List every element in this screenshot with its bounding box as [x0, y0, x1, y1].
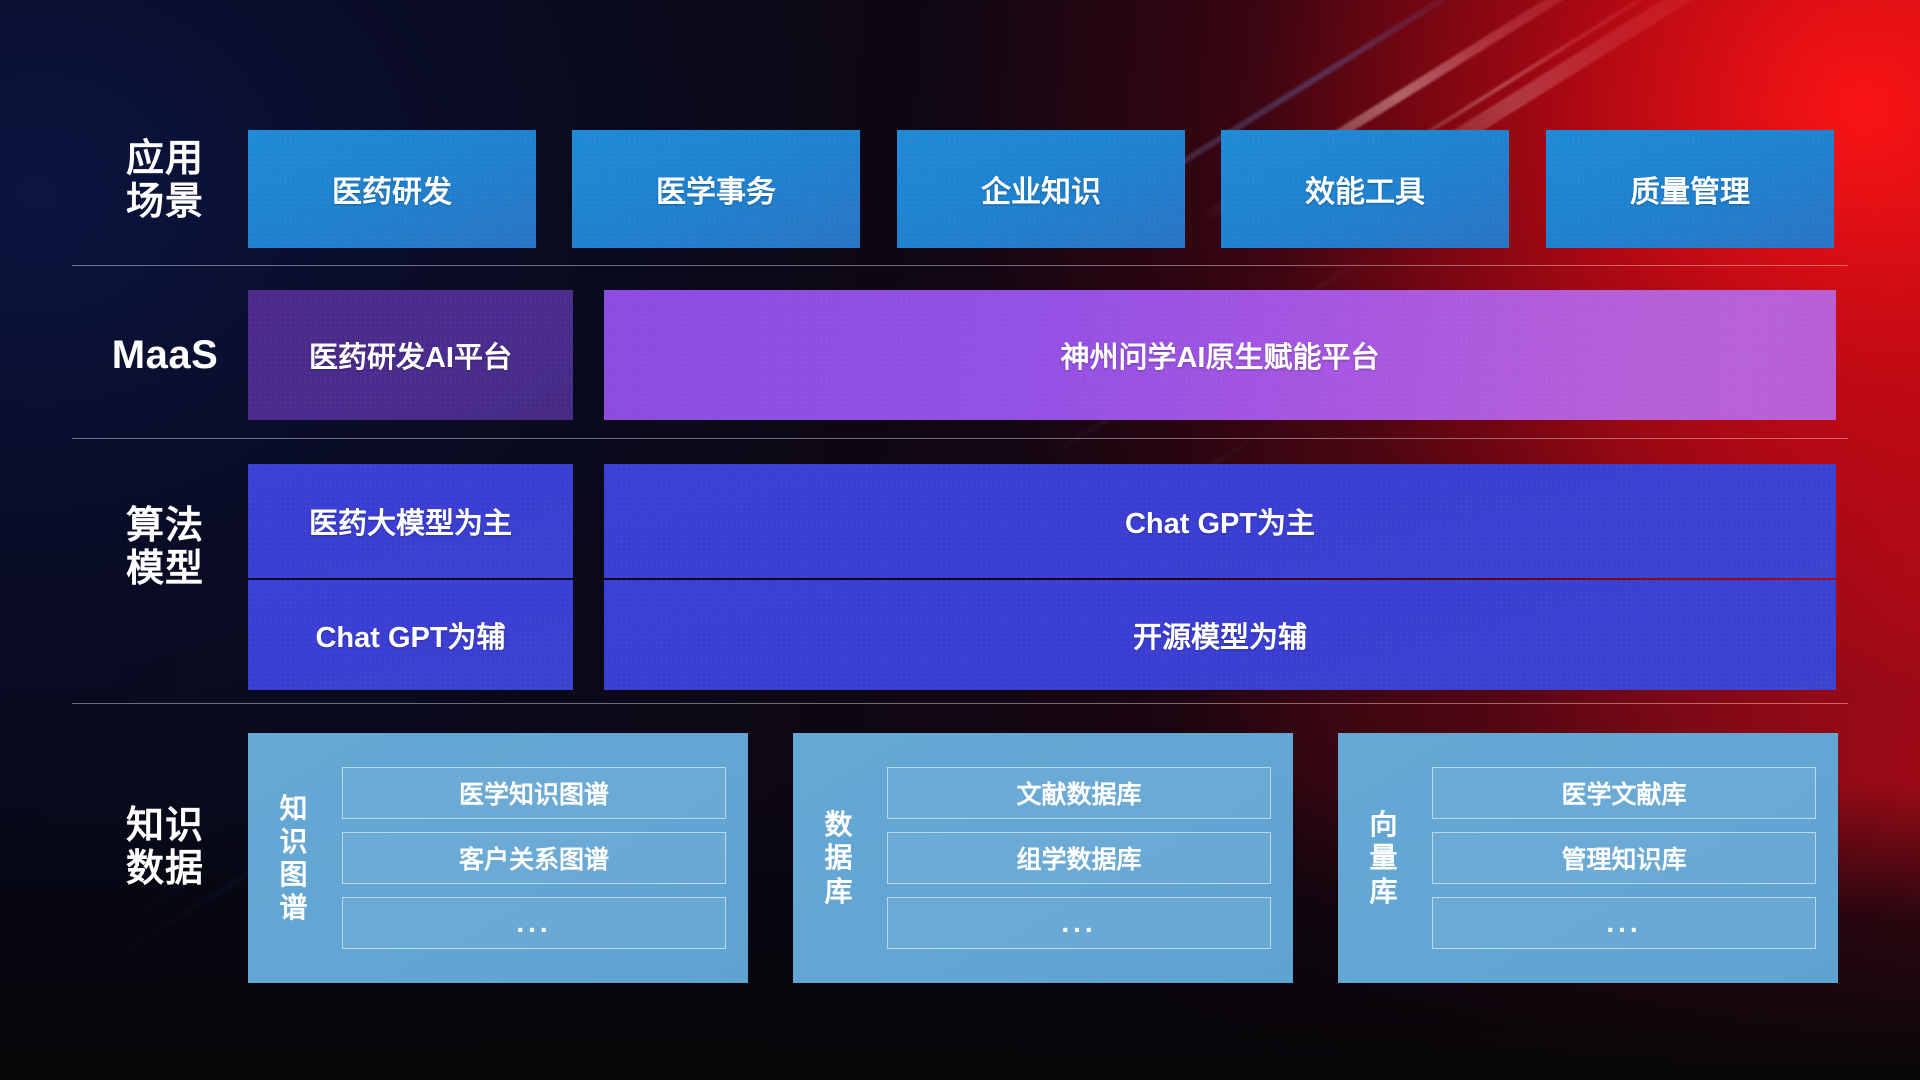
maas-card-label: 神州问学AI原生赋能平台: [1060, 334, 1379, 376]
knowledge-group-title: 向 量 库: [1338, 733, 1430, 983]
row-label-knowledge-data: 知识 数据: [80, 805, 250, 890]
algo-card-chatgpt-secondary[interactable]: Chat GPT为辅: [248, 580, 573, 690]
app-scenario-card-4[interactable]: 效能工具: [1221, 130, 1509, 248]
knowledge-item[interactable]: 医学文献库: [1432, 767, 1816, 819]
knowledge-group-items: 文献数据库 组学数据库 ...: [885, 733, 1293, 983]
knowledge-group-knowledge-graph[interactable]: 知 识 图 谱 医学知识图谱 客户关系图谱 ...: [248, 733, 748, 983]
algo-card-chatgpt-primary[interactable]: Chat GPT为主: [604, 464, 1836, 578]
row-label-line-2: 模型: [80, 548, 250, 591]
knowledge-item-more[interactable]: ...: [887, 897, 1271, 949]
maas-card-label: 医药研发AI平台: [309, 334, 512, 376]
knowledge-item[interactable]: 文献数据库: [887, 767, 1271, 819]
row-label-line-2: 场景: [80, 181, 250, 224]
app-scenario-card-3[interactable]: 企业知识: [897, 130, 1185, 248]
app-scenario-label: 企业知识: [981, 167, 1101, 211]
knowledge-group-title: 数 据 库: [793, 733, 885, 983]
row-label-maas: MaaS: [80, 333, 250, 378]
knowledge-item[interactable]: 组学数据库: [887, 832, 1271, 884]
knowledge-group-vector-store[interactable]: 向 量 库 医学文献库 管理知识库 ...: [1338, 733, 1838, 983]
row-label-algorithm-models: 算法 模型: [80, 505, 250, 590]
divider-row-1: [72, 265, 1848, 266]
knowledge-item-more[interactable]: ...: [342, 897, 726, 949]
app-scenario-label: 医药研发: [332, 167, 452, 211]
row-label-line-2: 数据: [80, 848, 250, 891]
app-scenario-label: 质量管理: [1630, 167, 1750, 211]
app-scenario-label: 医学事务: [656, 167, 776, 211]
row-label-line-1: 算法: [80, 505, 250, 548]
row-label-line-1: 知识: [80, 805, 250, 848]
algo-card-label: 开源模型为辅: [1133, 614, 1307, 656]
algo-card-opensource-secondary[interactable]: 开源模型为辅: [604, 580, 1836, 690]
algo-card-label: 医药大模型为主: [309, 500, 512, 542]
knowledge-group-title: 知 识 图 谱: [248, 733, 340, 983]
knowledge-group-items: 医学文献库 管理知识库 ...: [1430, 733, 1838, 983]
knowledge-group-database[interactable]: 数 据 库 文献数据库 组学数据库 ...: [793, 733, 1293, 983]
algo-card-pharma-llm-primary[interactable]: 医药大模型为主: [248, 464, 573, 578]
app-scenario-card-5[interactable]: 质量管理: [1546, 130, 1834, 248]
knowledge-item[interactable]: 客户关系图谱: [342, 832, 726, 884]
app-scenario-label: 效能工具: [1305, 167, 1425, 211]
app-scenario-card-1[interactable]: 医药研发: [248, 130, 536, 248]
knowledge-item[interactable]: 医学知识图谱: [342, 767, 726, 819]
knowledge-item-more[interactable]: ...: [1432, 897, 1816, 949]
algo-card-label: Chat GPT为主: [1125, 500, 1315, 542]
maas-card-pharma-platform[interactable]: 医药研发AI平台: [248, 290, 573, 420]
knowledge-item[interactable]: 管理知识库: [1432, 832, 1816, 884]
maas-card-shenzhou-platform[interactable]: 神州问学AI原生赋能平台: [604, 290, 1836, 420]
divider-row-2: [72, 438, 1848, 439]
row-label-line-1: 应用: [80, 138, 250, 181]
architecture-diagram: 应用 场景 医药研发 医学事务 企业知识 效能工具 质量管理 MaaS 医药研发…: [0, 0, 1920, 1080]
app-scenario-card-2[interactable]: 医学事务: [572, 130, 860, 248]
row-label-application-scenarios: 应用 场景: [80, 138, 250, 223]
divider-row-3: [72, 703, 1848, 704]
algo-card-label: Chat GPT为辅: [315, 614, 505, 656]
knowledge-group-items: 医学知识图谱 客户关系图谱 ...: [340, 733, 748, 983]
